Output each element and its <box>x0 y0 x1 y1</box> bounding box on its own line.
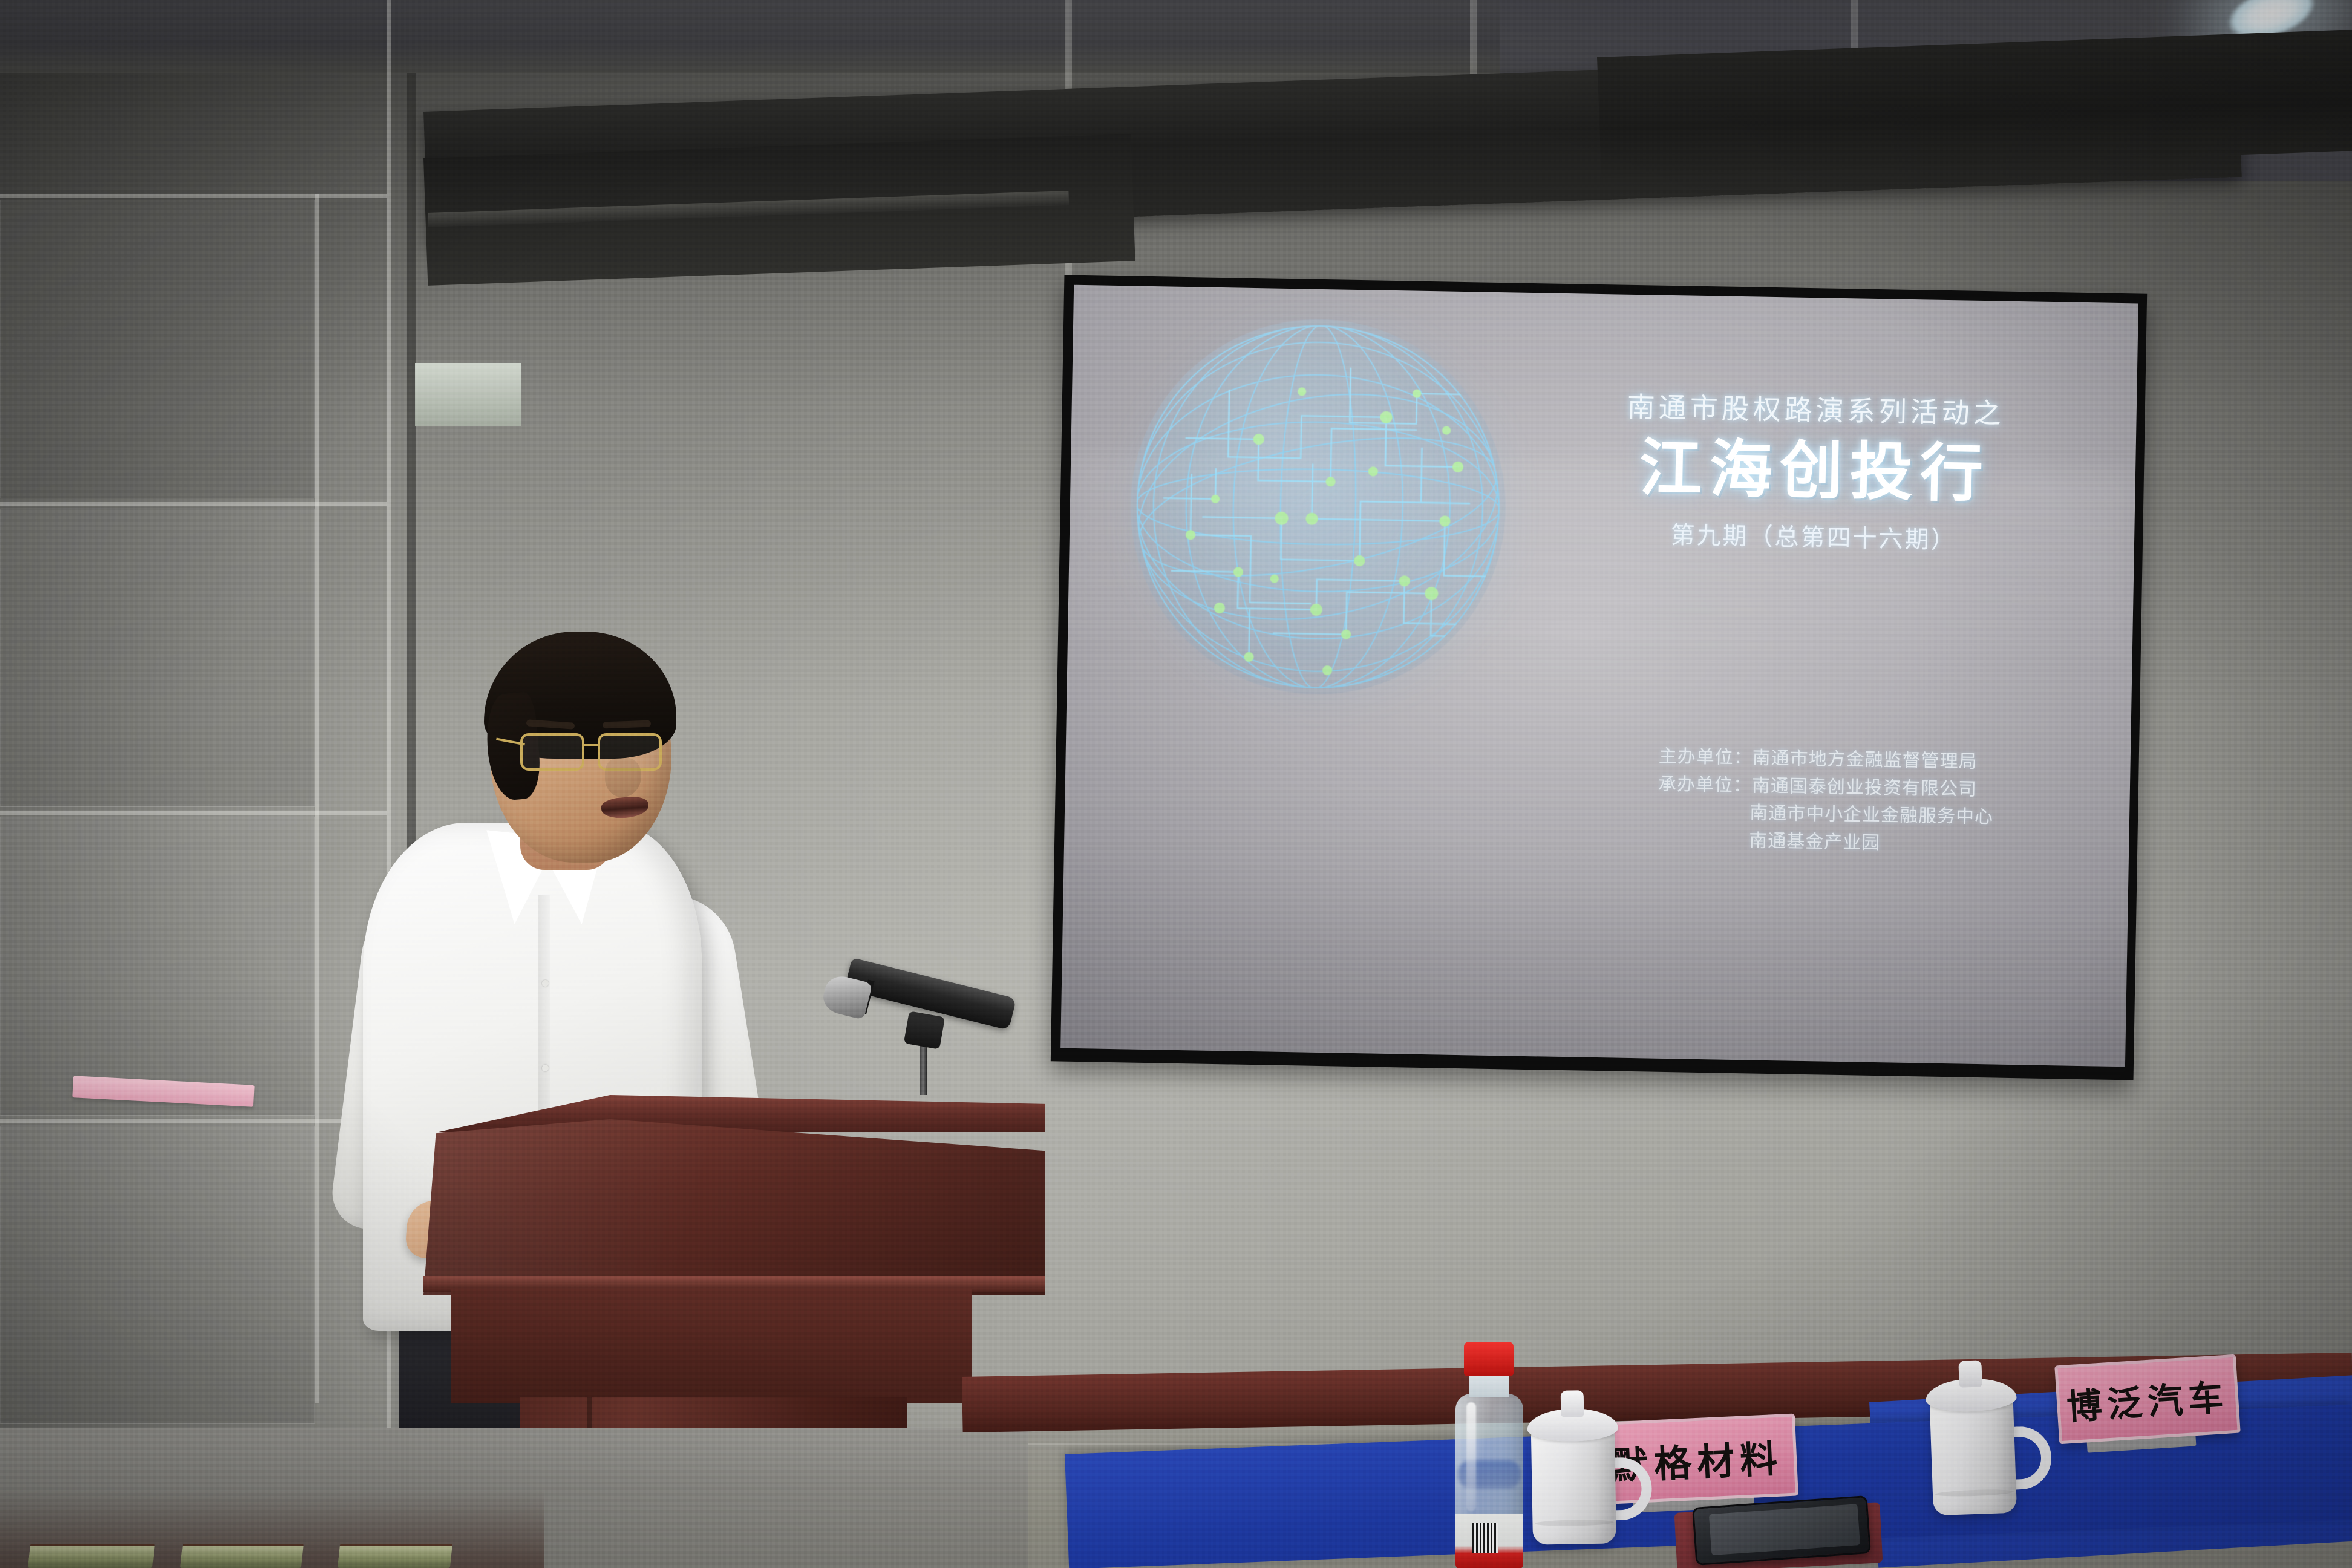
organizer-value: 南通国泰创业投资有限公司 <box>1752 776 1978 799</box>
lectern-front-panel <box>423 1119 1045 1295</box>
mug-body <box>1531 1428 1616 1544</box>
wall-seam <box>315 194 319 1403</box>
eyeglass-bridge <box>584 744 599 746</box>
wall-panel <box>0 508 315 807</box>
shirt-button <box>542 980 549 987</box>
wall-seam <box>0 811 387 815</box>
screen-frame: 南通市股权路演系列活动之 江海创投行 第九期（总第四十六期） 主办单位：南通市地… <box>1051 275 2147 1080</box>
organizer-value: 南通市中小企业金融服务中心 <box>1749 803 1994 828</box>
wall-seam <box>0 502 387 506</box>
bottle-cap <box>1464 1342 1514 1376</box>
chair-back <box>338 1544 452 1568</box>
name-placard: 博泛汽车 <box>2054 1354 2241 1445</box>
chair-back <box>28 1544 155 1568</box>
placard-label: 博泛汽车 <box>2065 1369 2230 1430</box>
wall-panel <box>0 200 315 498</box>
organizer-row: 承办单位：南通国泰创业投资有限公司 <box>1658 770 2106 806</box>
wall-panel <box>0 1125 315 1424</box>
microphone-stem <box>920 1040 927 1095</box>
ceramic-mug <box>1921 1357 2059 1524</box>
mug-lid-knob <box>1958 1360 1982 1387</box>
eyeglasses-icon <box>519 733 669 774</box>
organizer-row: 南通市中小企业金融服务中心 <box>1658 798 2106 834</box>
organizer-value: 南通市地方金融监督管理局 <box>1752 748 1978 771</box>
slide-text-block: 南通市股权路演系列活动之 江海创投行 第九期（总第四十六期） <box>1529 384 2101 558</box>
smartphone <box>1692 1495 1871 1566</box>
screen-surface: 南通市股权路演系列活动之 江海创投行 第九期（总第四十六期） 主办单位：南通市地… <box>1060 285 2138 1067</box>
slide-organizers: 主办单位：南通市地方金融监督管理局 承办单位：南通国泰创业投资有限公司 南通市中… <box>1657 743 2106 861</box>
screen-sheen <box>1068 452 2135 670</box>
bottle-barcode <box>1472 1523 1498 1553</box>
microphone-clip <box>904 1011 945 1050</box>
organizer-label: 承办单位： <box>1658 774 1753 795</box>
microphone-icon <box>811 956 1065 1137</box>
organizer-row: 南通基金产业园 <box>1657 826 2105 861</box>
shirt-button <box>542 1065 549 1071</box>
eyeglass-lens-left <box>520 733 584 771</box>
bottle-neck <box>1469 1373 1509 1397</box>
slide-kicker: 南通市股权路演系列活动之 <box>1531 384 2100 433</box>
organizer-value: 南通基金产业园 <box>1749 831 1881 853</box>
projection-screen: 南通市股权路演系列活动之 江海创投行 第九期（总第四十六期） 主办单位：南通市地… <box>1051 275 2147 1080</box>
organizer-row: 主办单位：南通市地方金融监督管理局 <box>1658 743 2106 779</box>
slide-subtitle: 第九期（总第四十六期） <box>1529 513 2099 558</box>
lectern-midsection <box>451 1289 972 1403</box>
mug-body <box>1930 1398 2017 1516</box>
water-bottle <box>1451 1342 1528 1568</box>
wall-seam <box>0 194 387 198</box>
wall-light-strip <box>415 363 521 426</box>
ceramic-mug <box>1523 1389 1659 1553</box>
wall-panel <box>0 817 315 1116</box>
wireframe-globe-icon <box>1127 316 1509 697</box>
chair-back <box>180 1544 304 1568</box>
photo-scene: 南通市股权路演系列活动之 江海创投行 第九期（总第四十六期） 主办单位：南通市地… <box>0 0 2352 1568</box>
slide-title: 江海创投行 <box>1530 432 2100 512</box>
globe-glow <box>1109 298 1534 722</box>
phone-screen <box>1709 1504 1860 1555</box>
wall-seam <box>0 1119 387 1123</box>
bottle-highlight <box>1466 1402 1476 1511</box>
organizer-label: 主办单位： <box>1658 746 1753 768</box>
mug-lid-knob <box>1561 1390 1584 1417</box>
